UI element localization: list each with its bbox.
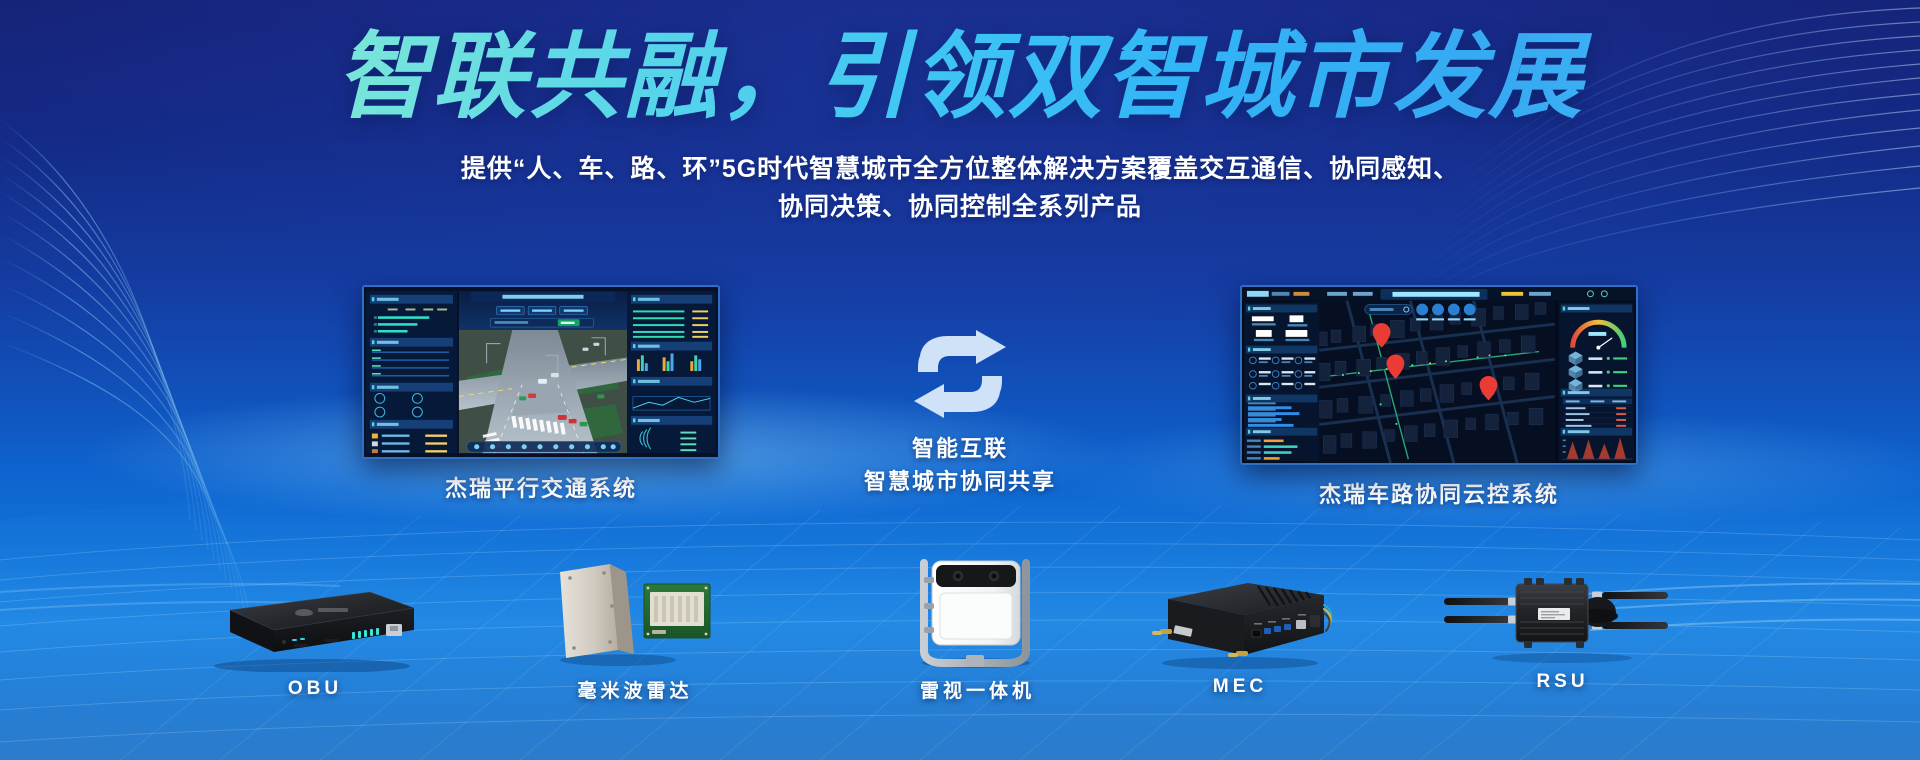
cloud-control-dashboard-graphic [1242,287,1636,463]
obu-device-icon [200,582,430,672]
device-radar-camera[interactable]: 雷视一体机 [890,555,1065,703]
device-label-rsu: RSU [1440,671,1685,693]
screen-caption-parallel-traffic: 杰瑞平行交通系统 [362,471,720,503]
device-label-cam: 雷视一体机 [890,676,1065,703]
dashboard-parallel-traffic[interactable] [362,285,720,459]
parallel-traffic-dashboard-graphic [364,287,718,457]
center-text-line-2: 智慧城市协同共享 [760,465,1160,498]
subtitle-line-2: 协同决策、协同控制全系列产品 [0,188,1920,226]
mmwave-radar-icon [540,560,730,670]
page-subtitle: 提供“人、车、路、环”5G时代智慧城市全方位整体解决方案覆盖交互通信、协同感知、… [0,150,1920,226]
screen-caption-cloud-control: 杰瑞车路协同云控系统 [1240,477,1638,509]
mec-device-icon [1140,575,1340,670]
device-rsu[interactable]: RSU [1440,570,1685,693]
screen-block-cloud-control: 杰瑞车路协同云控系统 [1240,285,1638,509]
banner-root: 智联共融，引领双智城市发展 提供“人、车、路、环”5G时代智慧城市全方位整体解决… [0,0,1920,760]
device-label-mec: MEC [1140,676,1340,698]
screen-block-parallel-traffic: 杰瑞平行交通系统 [362,285,720,503]
exchange-arrows-icon [910,330,1010,418]
device-obu[interactable]: OBU [200,582,430,700]
device-label-radar: 毫米波雷达 [540,676,730,703]
rsu-device-icon [1440,570,1685,665]
device-mmwave-radar[interactable]: 毫米波雷达 [540,560,730,703]
center-exchange-block: 智能互联 智慧城市协同共享 [760,330,1160,498]
page-title: 智联共融，引领双智城市发展 [0,28,1920,127]
device-mec[interactable]: MEC [1140,575,1340,698]
device-label-obu: OBU [200,678,430,700]
dashboard-cloud-control[interactable] [1240,285,1638,465]
radar-camera-icon [890,555,1065,670]
center-text-line-1: 智能互联 [760,432,1160,465]
subtitle-line-1: 提供“人、车、路、环”5G时代智慧城市全方位整体解决方案覆盖交互通信、协同感知、 [0,150,1920,188]
